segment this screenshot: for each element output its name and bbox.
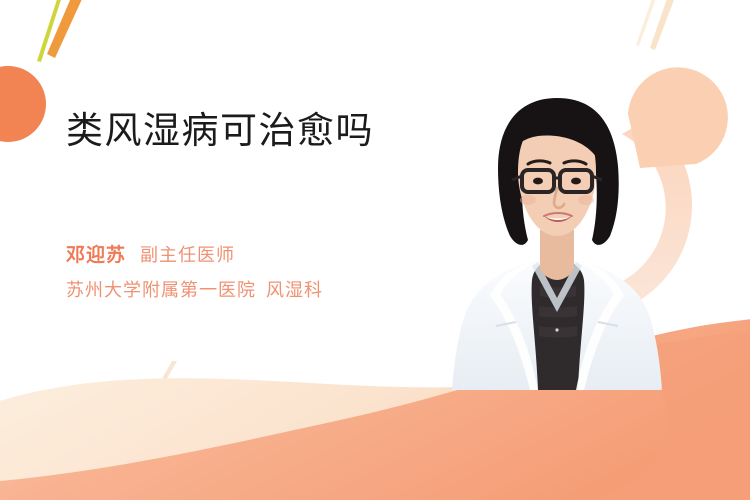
- top-right-stripes-decor: [636, 0, 680, 50]
- doctor-info-card: 类风湿病可治愈吗 邓迎苏副主任医师 苏州大学附属第一医院风湿科: [0, 0, 750, 500]
- doctor-portrait: [452, 90, 662, 390]
- hospital-name: 苏州大学附属第一医院: [66, 280, 256, 300]
- department-name: 风湿科: [266, 280, 323, 300]
- orange-circle-decor: [0, 66, 46, 142]
- title-block: 类风湿病可治愈吗: [66, 108, 446, 153]
- neck: [540, 230, 574, 280]
- doctor-affiliation-line: 苏州大学附属第一医院风湿科: [66, 281, 323, 300]
- page-title: 类风湿病可治愈吗: [66, 108, 446, 153]
- doctor-identity-line: 邓迎苏副主任医师: [66, 246, 323, 265]
- doctor-name: 邓迎苏: [66, 245, 126, 266]
- credits-block: 邓迎苏副主任医师 苏州大学附属第一医院风湿科: [66, 246, 323, 300]
- top-left-stripes-decor: [37, 0, 88, 62]
- doctor-title: 副主任医师: [140, 245, 235, 265]
